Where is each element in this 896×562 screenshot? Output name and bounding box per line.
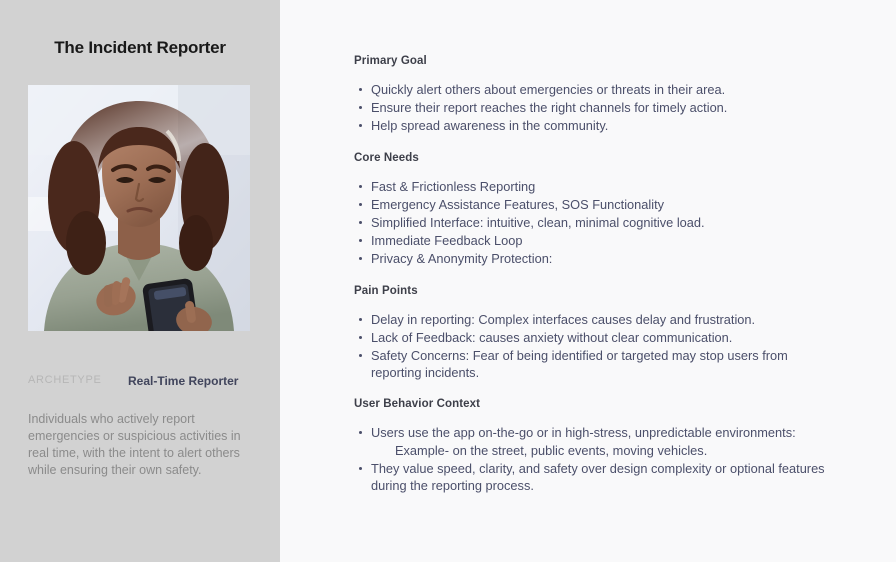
section-heading: Core Needs (354, 152, 836, 164)
portrait-photo-illustration (28, 85, 250, 331)
archetype-value: Real-Time Reporter (128, 374, 238, 388)
section-heading: Primary Goal (354, 55, 836, 67)
archetype-row: ARCHETYPE Real-Time Reporter (28, 374, 253, 390)
list-item: Users use the app on-the-go or in high-s… (354, 424, 836, 458)
list-item: Emergency Assistance Features, SOS Funct… (354, 196, 836, 213)
list-item-subtext: Example- on the street, public events, m… (371, 442, 836, 459)
page-title: The Incident Reporter (0, 38, 280, 58)
section-heading: Pain Points (354, 285, 836, 297)
section-primary-goal: Primary Goal Quickly alert others about … (354, 55, 836, 135)
section-user-behavior-context: User Behavior Context Users use the app … (354, 398, 836, 494)
persona-portrait (28, 85, 250, 331)
list-item: Privacy & Anonymity Protection: (354, 250, 836, 267)
list-item-text: Users use the app on-the-go or in high-s… (371, 425, 796, 440)
list-item: Fast & Frictionless Reporting (354, 178, 836, 195)
persona-details-panel: Primary Goal Quickly alert others about … (280, 0, 896, 562)
list-item: Ensure their report reaches the right ch… (354, 99, 836, 116)
bullet-list: Users use the app on-the-go or in high-s… (354, 424, 836, 494)
bullet-list: Fast & Frictionless Reporting Emergency … (354, 178, 836, 268)
list-item: Delay in reporting: Complex interfaces c… (354, 311, 836, 328)
list-item: They value speed, clarity, and safety ov… (354, 460, 836, 494)
bullet-list: Delay in reporting: Complex interfaces c… (354, 311, 836, 382)
persona-sidebar: The Incident Reporter (0, 0, 280, 562)
list-item: Immediate Feedback Loop (354, 232, 836, 249)
list-item: Help spread awareness in the community. (354, 117, 836, 134)
section-pain-points: Pain Points Delay in reporting: Complex … (354, 285, 836, 382)
section-heading: User Behavior Context (354, 398, 836, 410)
list-item: Simplified Interface: intuitive, clean, … (354, 214, 836, 231)
list-item: Safety Concerns: Fear of being identifie… (354, 347, 836, 381)
persona-card: The Incident Reporter (0, 0, 896, 562)
list-item: Quickly alert others about emergencies o… (354, 81, 836, 98)
list-item: Lack of Feedback: causes anxiety without… (354, 329, 836, 346)
bullet-list: Quickly alert others about emergencies o… (354, 81, 836, 135)
persona-description: Individuals who actively report emergenc… (28, 411, 244, 479)
archetype-label: ARCHETYPE (28, 374, 102, 386)
section-core-needs: Core Needs Fast & Frictionless Reporting… (354, 152, 836, 268)
